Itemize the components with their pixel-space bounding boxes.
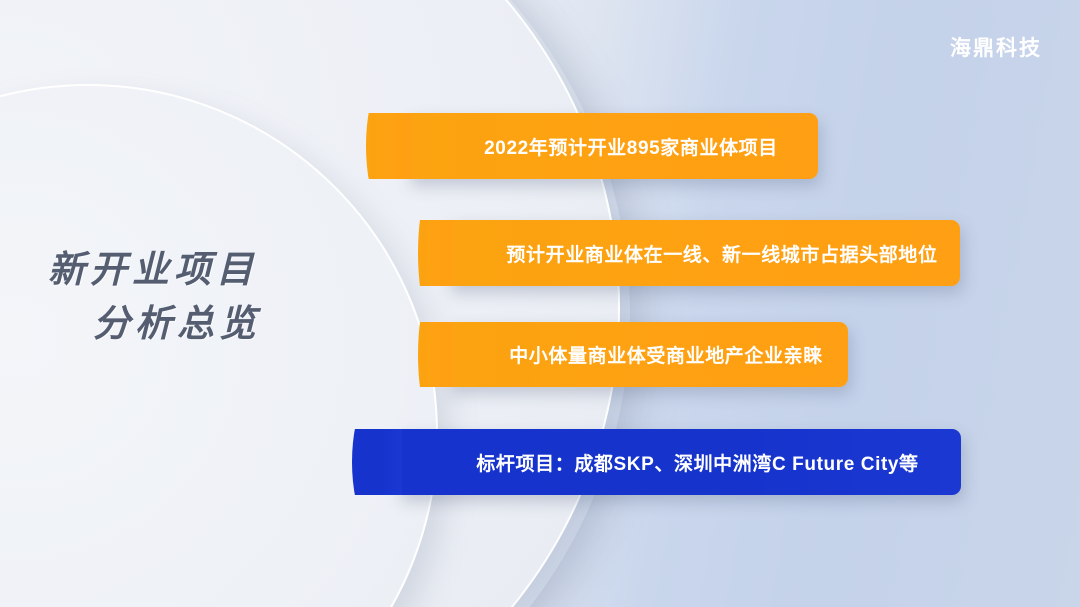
page-title-line-2: 分析总览 <box>0 297 300 351</box>
highlight-bar-2-label: 预计开业商业体在一线、新一线城市占据头部地位 <box>448 240 960 267</box>
highlight-bar-2[interactable]: 预计开业商业体在一线、新一线城市占据头部地位 <box>448 220 960 286</box>
highlight-bar-3[interactable]: 中小体量商业体受商业地产企业亲睐 <box>448 322 848 387</box>
highlight-bar-1-label: 2022年预计开业895家商业体项目 <box>408 133 818 160</box>
highlight-bar-1[interactable]: 2022年预计开业895家商业体项目 <box>408 113 818 179</box>
highlight-bar-4[interactable]: 标杆项目：成都SKP、深圳中洲湾C Future City等 <box>398 429 961 495</box>
brand-logo: 海鼎科技 <box>950 38 1042 59</box>
page-title-line-1: 新开业项目 <box>0 243 300 297</box>
slide-canvas: 海鼎科技 新开业项目 分析总览 2022年预计开业895家商业体项目 预计开业商… <box>0 0 1080 607</box>
highlight-bar-4-label: 标杆项目：成都SKP、深圳中洲湾C Future City等 <box>398 449 961 476</box>
page-title: 新开业项目 分析总览 <box>0 243 300 350</box>
highlight-bar-3-label: 中小体量商业体受商业地产企业亲睐 <box>448 341 848 368</box>
